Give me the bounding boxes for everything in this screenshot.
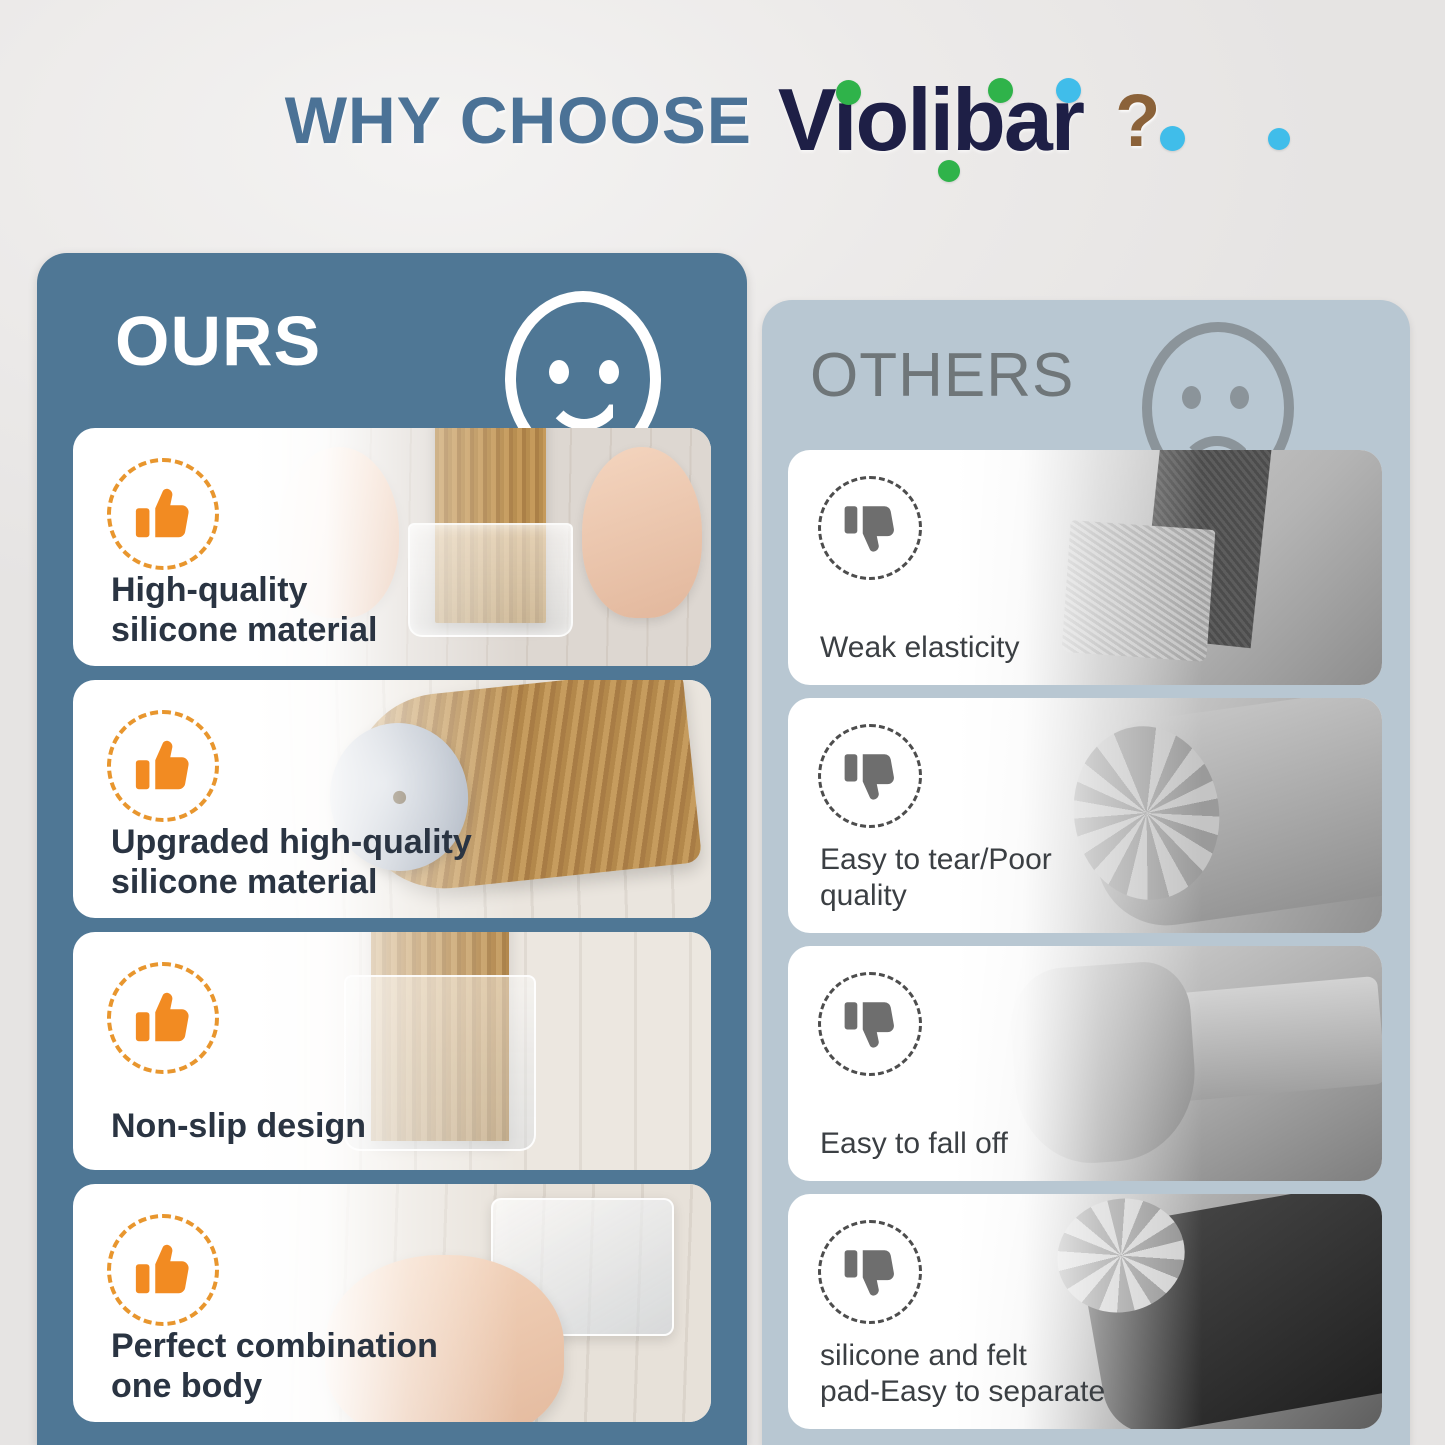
thumbs-down-icon [818, 724, 922, 828]
smiley-eye-right [599, 360, 619, 384]
thumbs-up-icon [107, 458, 219, 570]
others-panel: OTHERS Weak el [762, 300, 1410, 1445]
card-label: Easy to tear/Poor quality [818, 842, 1156, 933]
card-body: Perfect combination one body [73, 1184, 481, 1422]
infographic-page: WHY CHOOSE Violibar ? OURS [0, 0, 1445, 1445]
smiley-eye-left [549, 360, 569, 384]
logo-dot-green-3 [938, 160, 960, 182]
logo-dot-blue-1 [1056, 78, 1081, 103]
ours-panel-header: OURS [37, 253, 747, 428]
card-body: Weak elasticity [788, 450, 1156, 685]
thumbs-up-icon [107, 962, 219, 1074]
card-label: Upgraded high-quality silicone material [107, 822, 481, 918]
card-label: silicone and felt pad-Easy to separate [818, 1338, 1156, 1429]
ours-card[interactable]: High-quality silicone material [73, 428, 711, 666]
card-label: Non-slip design [107, 1106, 481, 1170]
ours-card[interactable]: Perfect combination one body [73, 1184, 711, 1422]
others-card[interactable]: silicone and felt pad-Easy to separate [788, 1194, 1382, 1429]
others-card[interactable]: Easy to tear/Poor quality [788, 698, 1382, 933]
others-panel-header: OTHERS [762, 300, 1410, 450]
question-mark: ? [1115, 78, 1160, 163]
logo-dot-blue-3 [1268, 128, 1290, 150]
card-body: silicone and felt pad-Easy to separate [788, 1194, 1156, 1429]
others-title: OTHERS [810, 340, 1074, 411]
thumbs-down-icon [818, 1220, 922, 1324]
logo-dot-green-2 [988, 78, 1013, 103]
card-label: High-quality silicone material [107, 570, 481, 666]
card-body: Easy to fall off [788, 946, 1156, 1181]
brand-wordmark: Violibar [778, 70, 1083, 169]
thumbs-down-icon [818, 476, 922, 580]
ours-card[interactable]: Non-slip design [73, 932, 711, 1170]
ours-card[interactable]: Upgraded high-quality silicone material [73, 680, 711, 918]
logo-dot-blue-2 [1160, 126, 1185, 151]
card-label: Easy to fall off [818, 1126, 1156, 1181]
sad-eye-left [1182, 386, 1201, 409]
others-card[interactable]: Easy to fall off [788, 946, 1382, 1181]
card-body: Upgraded high-quality silicone material [73, 680, 481, 918]
ours-title: OURS [115, 301, 321, 381]
header: WHY CHOOSE Violibar ? [0, 55, 1445, 185]
page-title: WHY CHOOSE [285, 82, 752, 158]
sad-eye-right [1230, 386, 1249, 409]
smiley-mouth [544, 386, 624, 430]
card-body: Non-slip design [73, 932, 481, 1170]
thumbs-down-icon [818, 972, 922, 1076]
brand-logo: Violibar [778, 76, 1083, 164]
others-card[interactable]: Weak elasticity [788, 450, 1382, 685]
thumbs-up-icon [107, 1214, 219, 1326]
thumbs-up-icon [107, 710, 219, 822]
ours-panel: OURS High-qual [37, 253, 747, 1445]
ours-card-list: High-quality silicone material Upgraded … [37, 428, 747, 1422]
logo-dot-green-1 [836, 80, 861, 105]
others-card-list: Weak elasticity Easy to tear/Poor qualit… [762, 450, 1410, 1429]
card-body: Easy to tear/Poor quality [788, 698, 1156, 933]
card-body: High-quality silicone material [73, 428, 481, 666]
card-label: Weak elasticity [818, 630, 1156, 685]
card-label: Perfect combination one body [107, 1326, 481, 1422]
